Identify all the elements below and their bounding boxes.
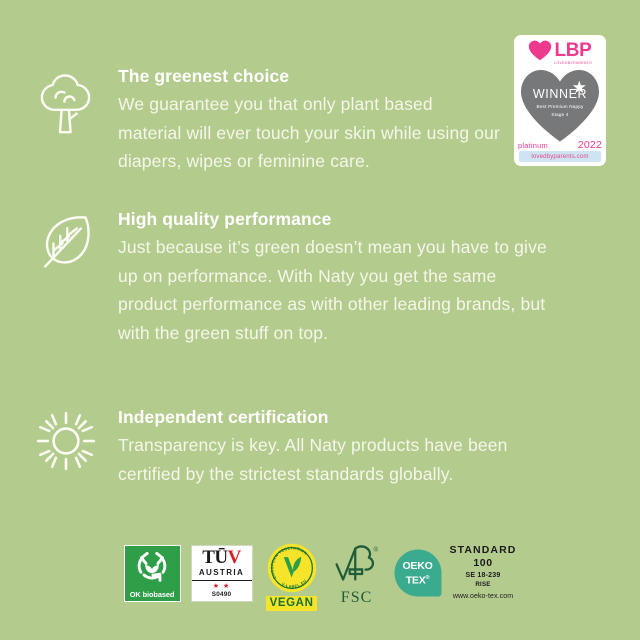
heart-icon (528, 40, 552, 66)
certification-tuv-austria: TŪV AUSTRIA ★ ★ S0490 (191, 545, 253, 602)
feature-body: The greenest choice We guarantee you tha… (102, 64, 500, 176)
award-brand-sub: LOVEDBYPARENTS (554, 60, 592, 66)
award-url[interactable]: lovedbyparents.com (519, 151, 601, 162)
award-meta: platinum 2022 (518, 139, 602, 151)
recycle-leaf-icon (133, 549, 171, 588)
feature-text: We guarantee you that only plant based m… (118, 90, 500, 176)
certification-oeko-tex: OEKO TEX® STANDARD 100 SE 18-239 RISE ww… (393, 544, 517, 602)
tuv-divider (192, 580, 252, 581)
award-tier: platinum (518, 141, 548, 150)
oeko-mark-line1: OEKO (393, 560, 443, 572)
oeko-standard-number: 100 (473, 557, 492, 570)
oeko-certificate-number: SE 18-239 (466, 571, 501, 581)
feature-title: The greenest choice (118, 64, 500, 88)
tuv-region: AUSTRIA (199, 567, 244, 578)
fsc-tree-check-icon: ® (334, 543, 380, 588)
feature-title: Independent certification (118, 405, 550, 429)
v-leaf-icon: EUROPEAN VEGETARIAN UNION V-LABEL.EU (266, 542, 318, 599)
tuv-suffix: V (228, 547, 241, 568)
certification-vegan: EUROPEAN VEGETARIAN UNION V-LABEL.EU VEG… (263, 542, 321, 604)
oeko-mark-line2: TEX (406, 575, 426, 587)
tuv-wordmark: TŪV (202, 548, 241, 567)
feature-block-independent-certification: Independent certification Transparency i… (30, 405, 550, 488)
certification-ok-biobased: OK biobased (124, 545, 181, 602)
award-logo: LBP LOVEDBYPARENTS (519, 40, 601, 66)
oeko-standard-label: STANDARD (450, 544, 517, 557)
feature-body: High quality performance Just because it… (102, 207, 550, 347)
feature-title: High quality performance (118, 207, 550, 231)
feature-text: Just because it’s green doesn’t mean you… (118, 233, 550, 347)
award-year: 2022 (578, 139, 602, 151)
leaf-icon (30, 207, 102, 277)
feature-text: Transparency is key. All Naty products h… (118, 431, 550, 488)
oeko-institute: RISE (475, 581, 490, 589)
vegan-label: VEGAN (266, 596, 318, 611)
fsc-label: FSC (341, 589, 372, 606)
award-winner-label: WINNER (519, 87, 601, 101)
oeko-url[interactable]: www.oeko-tex.com (453, 591, 513, 602)
award-stage: Stage 4 (519, 111, 601, 118)
tuv-code: S0490 (212, 591, 231, 599)
oeko-registered: ® (426, 575, 430, 581)
certification-logo-strip: OK biobased TŪV AUSTRIA ★ ★ S0490 (0, 536, 640, 610)
award-category: Best Premium Nappy (519, 103, 601, 111)
feature-block-high-quality-performance: High quality performance Just because it… (30, 207, 550, 347)
lbp-award-badge: LBP LOVEDBYPARENTS WINNER Best Premium N… (514, 35, 606, 166)
sun-icon (30, 405, 102, 475)
ok-biobased-label: OK biobased (130, 590, 174, 599)
oeko-tex-mark: OEKO TEX® (393, 548, 443, 598)
feature-body: Independent certification Transparency i… (102, 405, 550, 488)
oeko-tex-info: STANDARD 100 SE 18-239 RISE www.oeko-tex… (450, 544, 517, 602)
promo-panel: The greenest choice We guarantee you tha… (0, 0, 640, 640)
tuv-prefix: TŪ (202, 547, 227, 568)
certification-fsc: ® FSC (331, 543, 383, 603)
svg-text:®: ® (373, 547, 378, 554)
tree-icon (30, 64, 102, 140)
award-brand: LBP (554, 41, 591, 60)
tuv-stars: ★ ★ (213, 583, 231, 591)
feature-block-greenest-choice: The greenest choice We guarantee you tha… (30, 64, 500, 176)
